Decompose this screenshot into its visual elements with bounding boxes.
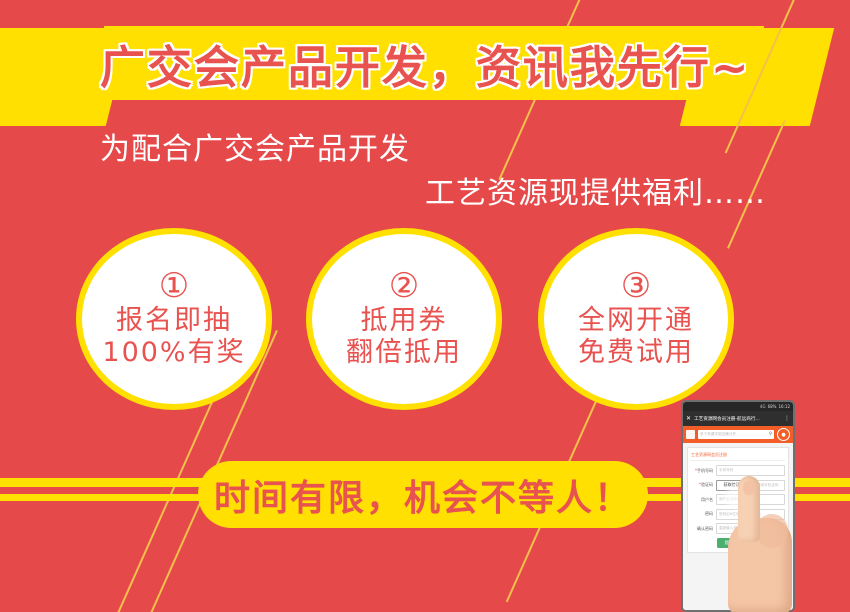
benefit-line-1: 全网开通 bbox=[578, 305, 694, 337]
password-field-label: 密码 bbox=[691, 511, 713, 517]
phone-page-body: 工艺资源网会员注册 *手机号码 手机号码 *验证码 获取验证码 请填写验 bbox=[683, 443, 793, 612]
signal-indicator: 4G bbox=[760, 404, 766, 409]
phone-browser-bar: ✕ 工艺资源网会员注册-航远商行… ⋮ bbox=[683, 411, 793, 426]
phone-number-input[interactable]: 手机号码 bbox=[716, 465, 785, 476]
benefit-number: ③ bbox=[621, 269, 651, 303]
search-placeholder: 多个关键字用空格分开 bbox=[700, 432, 736, 437]
benefit-number: ① bbox=[159, 269, 189, 303]
submit-registration-button[interactable]: 提交注册 bbox=[717, 538, 749, 548]
cta-pill[interactable]: 时间有限，机会不等人！ bbox=[198, 461, 648, 528]
benefit-circle-1: ① 报名即抽 100%有奖 bbox=[76, 228, 272, 410]
verify-code-placeholder: 请填写验证码 bbox=[757, 483, 779, 488]
benefit-line-2: 100%有奖 bbox=[102, 337, 245, 369]
search-input[interactable]: 多个关键字用空格分开 ⚲ bbox=[698, 430, 774, 439]
form-heading: 工艺资源网会员注册 bbox=[691, 452, 785, 461]
username-field-label: 用户名 bbox=[691, 497, 713, 503]
close-icon[interactable]: ✕ bbox=[686, 415, 691, 422]
headline-banner: 广交会产品开发，资讯我先行~ bbox=[86, 26, 764, 100]
confirm-password-field-label: 确认密码 bbox=[691, 526, 713, 532]
phone-search-bar: 多个关键字用空格分开 ⚲ ● bbox=[683, 426, 793, 443]
verify-code-input[interactable]: 请填写验证码 bbox=[754, 480, 785, 491]
confirm-password-placeholder: 重新输入密码 bbox=[719, 526, 741, 531]
promo-banner: 广交会产品开发，资讯我先行~ 为配合广交会产品开发 工艺资源现提供福利…… ① … bbox=[0, 0, 850, 612]
benefit-line-2: 免费试用 bbox=[578, 337, 694, 369]
password-placeholder: 密码由6位字母和数字组合 bbox=[719, 512, 761, 517]
site-logo-icon bbox=[686, 430, 695, 439]
phone-field-label: *手机号码 bbox=[691, 468, 713, 474]
user-account-icon[interactable]: ● bbox=[777, 428, 790, 441]
benefit-line-2: 翻倍抵用 bbox=[346, 337, 462, 369]
benefit-line-1: 抵用券 bbox=[361, 305, 448, 337]
code-field-label: *验证码 bbox=[691, 482, 713, 488]
password-input[interactable]: 密码由6位字母和数字组合 bbox=[716, 509, 785, 520]
benefit-number: ② bbox=[389, 269, 419, 303]
phone-number-placeholder: 手机号码 bbox=[719, 468, 733, 473]
subtitle-line-1: 为配合广交会产品开发 bbox=[100, 124, 410, 168]
clock-text: 16:12 bbox=[778, 404, 790, 409]
search-icon[interactable]: ⚲ bbox=[769, 432, 772, 437]
headline-text: 广交会产品开发，资讯我先行~ bbox=[100, 31, 751, 96]
benefit-circle-3: ③ 全网开通 免费试用 bbox=[538, 228, 734, 410]
benefit-circle-2: ② 抵用券 翻倍抵用 bbox=[306, 228, 502, 410]
phone-status-bar: 4G 68% 16:12 bbox=[683, 402, 793, 411]
page-title-text: 工艺资源网会员注册-航远商行… bbox=[694, 416, 781, 422]
benefit-line-1: 报名即抽 bbox=[116, 305, 232, 337]
cta-text: 时间有限，机会不等人！ bbox=[214, 469, 632, 521]
tap-ripple bbox=[727, 487, 747, 507]
form-row-phone: *手机号码 手机号码 bbox=[691, 465, 785, 476]
form-row-confirm-password: 确认密码 重新输入密码 bbox=[691, 523, 785, 534]
confirm-password-input[interactable]: 重新输入密码 bbox=[716, 523, 785, 534]
overflow-menu-icon[interactable]: ⋮ bbox=[784, 415, 790, 422]
form-row-password: 密码 密码由6位字母和数字组合 bbox=[691, 509, 785, 520]
subtitle-line-2: 工艺资源现提供福利…… bbox=[425, 168, 766, 212]
battery-indicator: 68% bbox=[768, 404, 777, 409]
